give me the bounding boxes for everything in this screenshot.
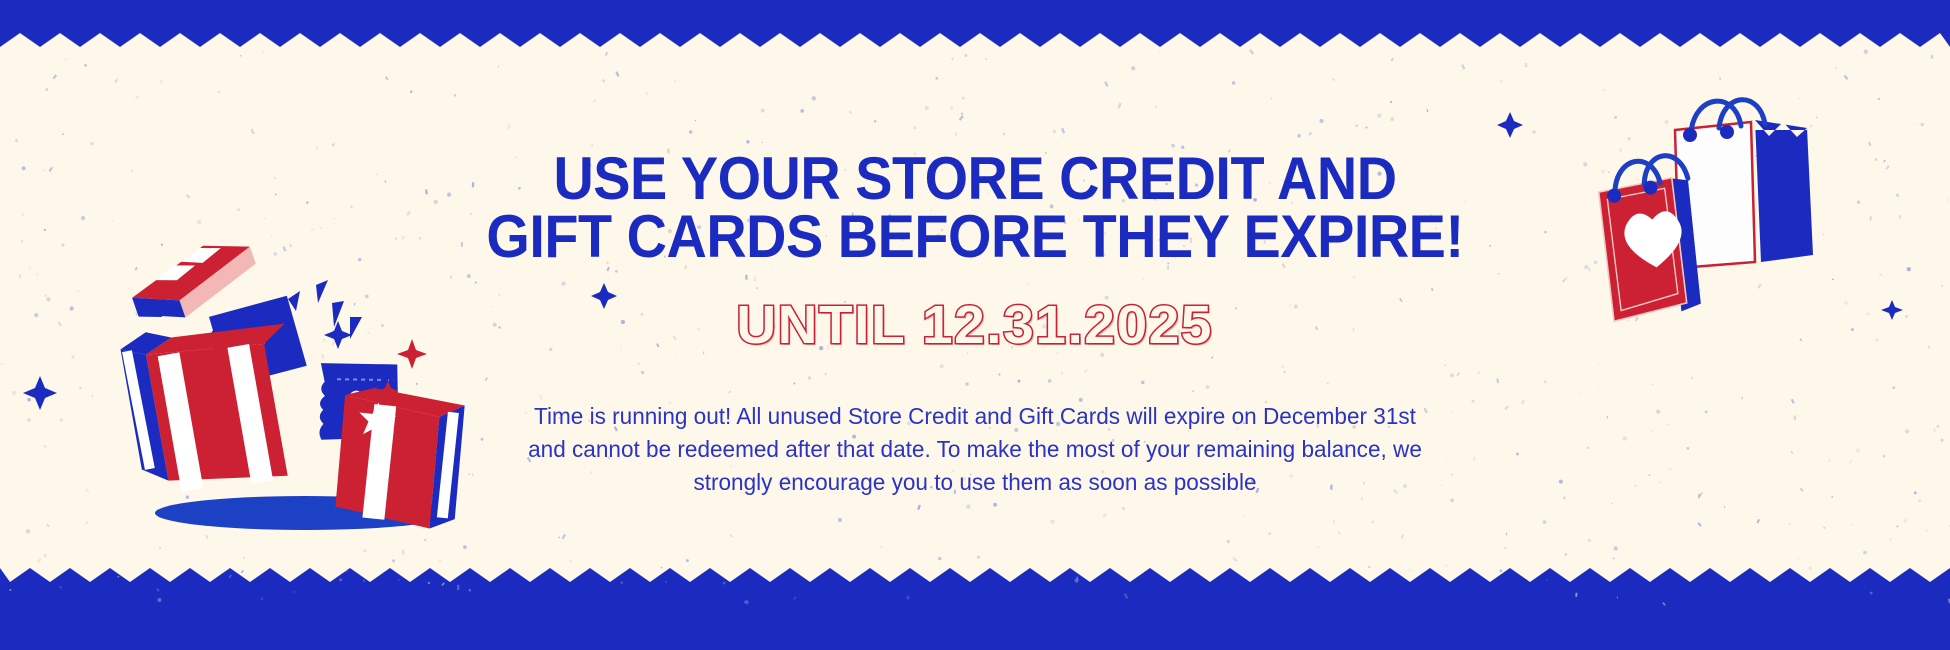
promo-banner: USE YOUR STORE CREDIT AND GIFT CARDS BEF… (0, 0, 1950, 650)
body-paragraph: Time is running out! All unused Store Cr… (524, 400, 1426, 499)
expiry-date-label: UNTIL 12.31.2025 (737, 297, 1214, 353)
headline-line-2: GIFT CARDS BEFORE THEY EXPIRE! (68, 208, 1882, 266)
headline-line-1: USE YOUR STORE CREDIT AND (68, 150, 1882, 208)
headline-block: USE YOUR STORE CREDIT AND GIFT CARDS BEF… (0, 150, 1950, 266)
expiry-date-block: UNTIL 12.31.2025 (0, 297, 1950, 353)
banner-text-content: USE YOUR STORE CREDIT AND GIFT CARDS BEF… (0, 0, 1950, 650)
body-copy-block: Time is running out! All unused Store Cr… (0, 400, 1950, 499)
